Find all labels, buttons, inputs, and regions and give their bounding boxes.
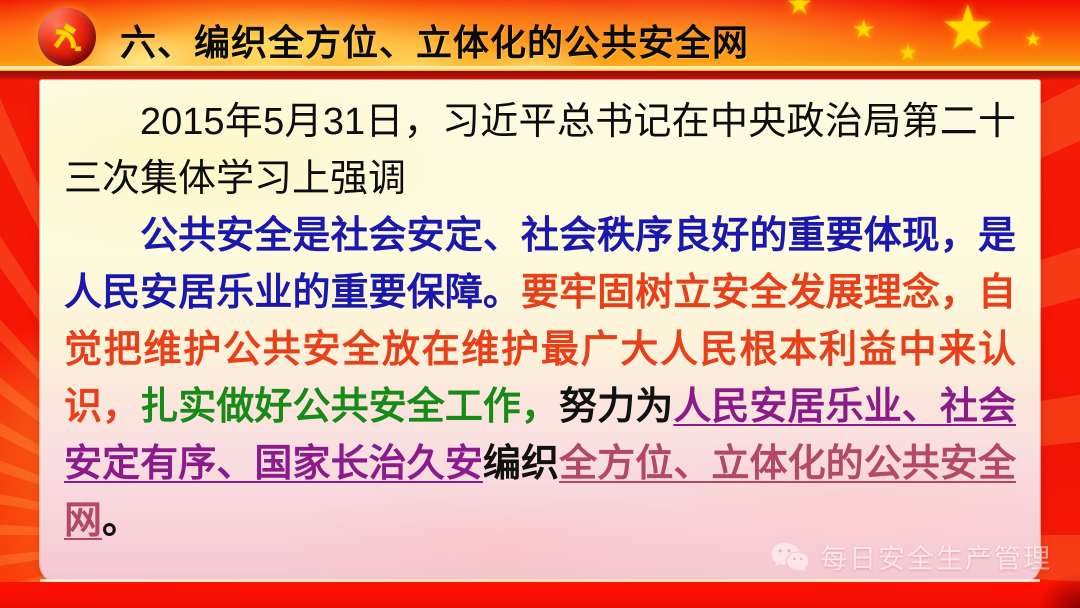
- presentation-slide: ★ ★ ★ ★ ★ 六、编织全方位、立体化的公共安全网: [0, 0, 1080, 608]
- quote-paragraph: 公共安全是社会安定、社会秩序良好的重要体现，是人民安居乐业的重要保障。要牢固树立…: [64, 208, 1016, 550]
- star-icon: ★: [898, 42, 918, 64]
- corner-shadow: [1038, 574, 1080, 608]
- content-panel: 2015年5月31日，习近平总书记在中央政治局第二十三次集体学习上强调 公共安全…: [40, 80, 1040, 582]
- page-title: 六、编织全方位、立体化的公共安全网: [120, 14, 749, 66]
- slide-body-text: 2015年5月31日，习近平总书记在中央政治局第二十三次集体学习上强调 公共安全…: [64, 94, 1016, 550]
- star-icon: ★: [852, 16, 875, 42]
- quote-segment-period: 。: [102, 500, 140, 542]
- quote-segment-green: 扎实做好公共安全工作，: [140, 386, 559, 428]
- quote-segment-black-1: 努力为: [559, 386, 673, 428]
- wechat-watermark: 每日安全生产管理: [770, 537, 1052, 576]
- intro-paragraph: 2015年5月31日，习近平总书记在中央政治局第二十三次集体学习上强调: [64, 94, 1016, 208]
- cpc-party-emblem-icon: [38, 8, 96, 66]
- flag-stars-decoration: ★ ★ ★ ★ ★: [780, 0, 1080, 72]
- quote-segment-black-2: 编织: [483, 443, 559, 485]
- slide-bottom-bar: [0, 582, 1080, 608]
- star-icon: ★: [1024, 30, 1042, 50]
- star-icon: ★: [786, 0, 813, 20]
- wechat-logo-icon: [770, 541, 810, 573]
- wechat-account-name: 每日安全生产管理: [820, 537, 1052, 576]
- star-icon: ★: [940, 0, 996, 60]
- header-divider-dark: [0, 71, 1080, 80]
